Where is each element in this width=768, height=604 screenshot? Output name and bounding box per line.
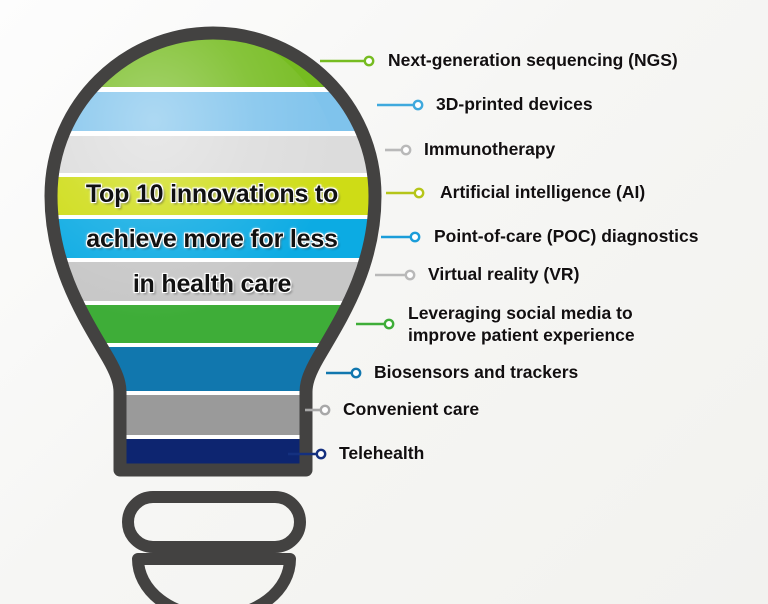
callout-label-6[interactable]: Virtual reality (VR) <box>428 264 579 285</box>
callout-label-7[interactable]: Leveraging social media to improve patie… <box>408 302 635 346</box>
callout-dot-icon[interactable] <box>321 406 329 414</box>
bulb-base-ring <box>128 497 300 547</box>
callout-dot-icon[interactable] <box>402 146 410 154</box>
callout-label-5[interactable]: Point-of-care (POC) diagnostics <box>434 226 698 247</box>
callout-dot-icon[interactable] <box>415 189 423 197</box>
stripe-divider <box>40 391 390 395</box>
lightbulb-illustration <box>0 0 768 604</box>
callout-dot-icon[interactable] <box>352 369 360 377</box>
callout-dot-icon[interactable] <box>365 57 373 65</box>
callout-label-2[interactable]: 3D-printed devices <box>436 94 593 115</box>
callout-dot-icon[interactable] <box>385 320 393 328</box>
callout-dot-icon[interactable] <box>414 101 422 109</box>
callout-dot-icon[interactable] <box>411 233 419 241</box>
callout-label-10[interactable]: Telehealth <box>339 443 424 464</box>
stripe-8 <box>40 347 390 391</box>
bulb-base-cup <box>138 559 290 604</box>
callout-label-4[interactable]: Artificial intelligence (AI) <box>440 182 645 203</box>
callout-label-8[interactable]: Biosensors and trackers <box>374 362 578 383</box>
callout-label-9[interactable]: Convenient care <box>343 399 479 420</box>
callout-label-1[interactable]: Next-generation sequencing (NGS) <box>388 50 678 71</box>
callout-dot-icon[interactable] <box>406 271 414 279</box>
callout-label-3[interactable]: Immunotherapy <box>424 139 555 160</box>
stripe-divider <box>40 435 390 439</box>
infographic-canvas: Top 10 innovations to achieve more for l… <box>0 0 768 604</box>
glass-highlight <box>40 25 340 345</box>
stripe-10 <box>40 439 390 484</box>
callout-dot-icon[interactable] <box>317 450 325 458</box>
stripe-9 <box>40 395 390 435</box>
